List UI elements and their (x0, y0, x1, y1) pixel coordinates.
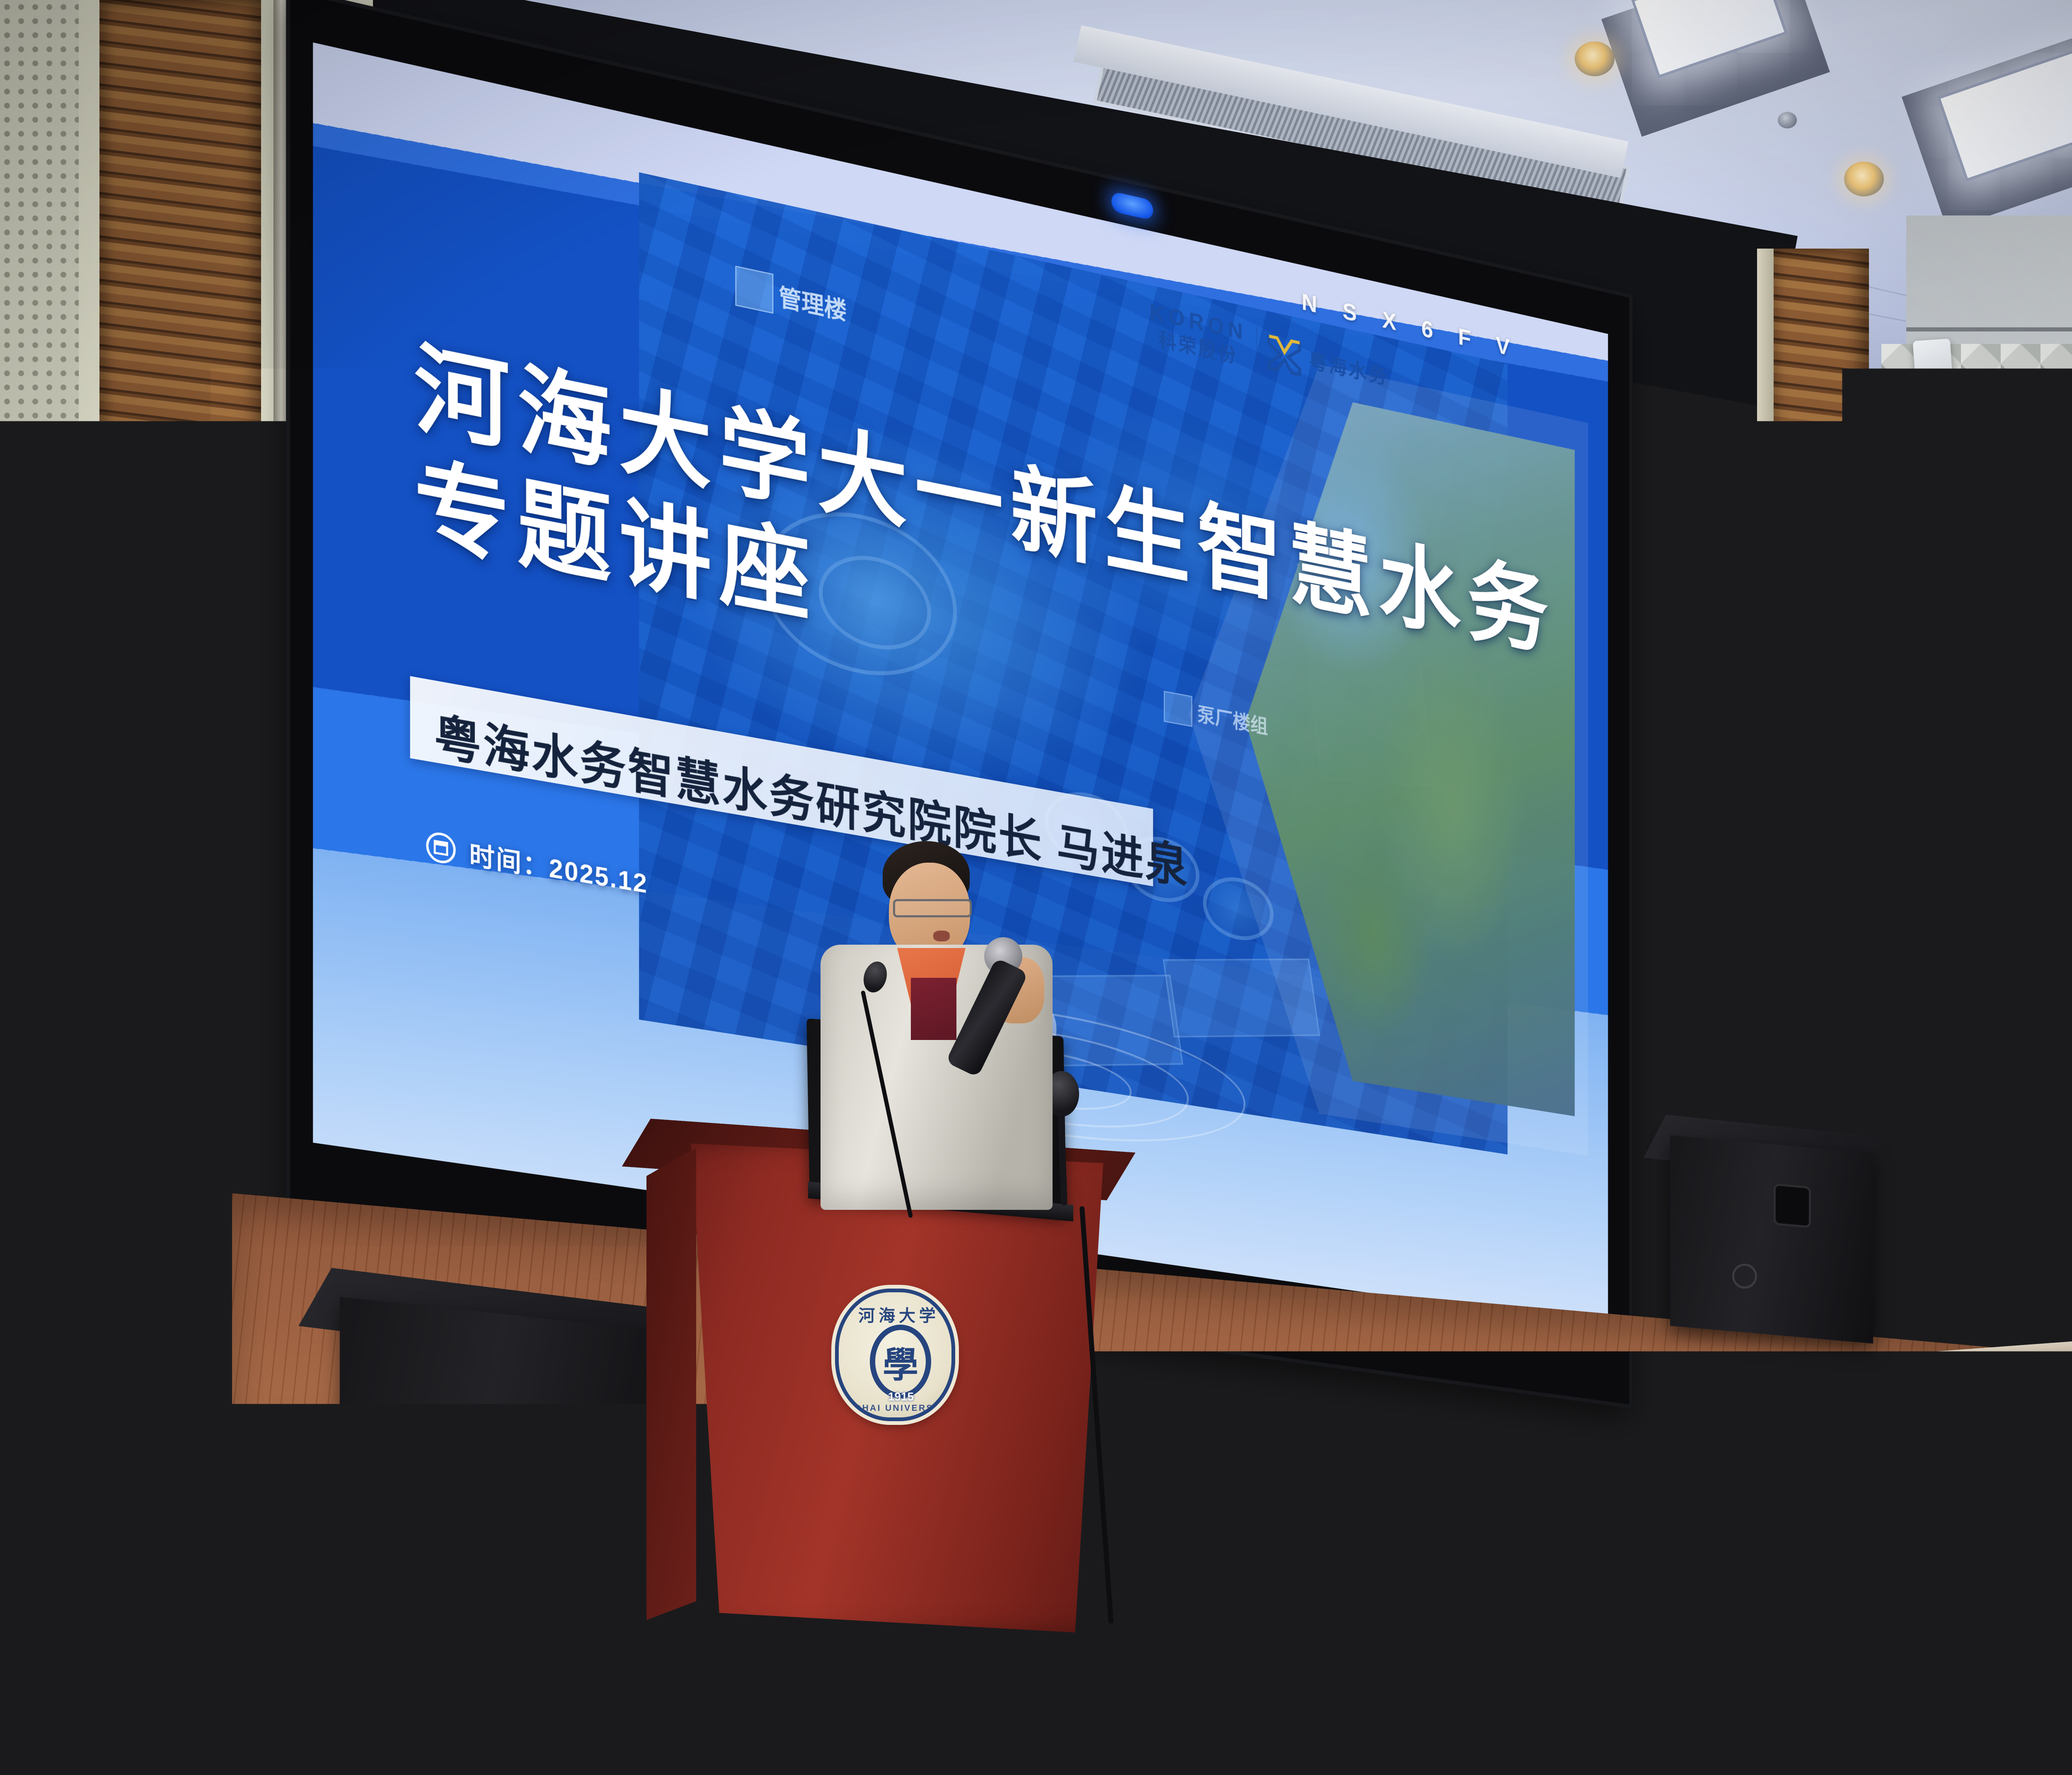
ceiling-downlight (1575, 41, 1615, 76)
emblem-core-character: 學 (883, 1336, 918, 1388)
column-trim (1757, 249, 1774, 1251)
emblem-year: 1915 (878, 1390, 924, 1403)
exit-sign: 安全出口 EXIT (1977, 802, 2047, 843)
calendar-glyph (434, 840, 448, 856)
handrail (1977, 941, 1983, 1247)
emblem-en-text: HOHAI UNIVERSITY (845, 1403, 953, 1413)
smartphone[interactable] (2048, 974, 2072, 995)
left-perforated-panel (0, 0, 79, 646)
university-emblem: 河海大学 學 1915 HOHAI UNIVERSITY (835, 1289, 955, 1421)
wall-power-socket (116, 1392, 166, 1423)
photographer-glasses (2048, 950, 2072, 959)
emblem-core: 學 (870, 1325, 931, 1398)
photographer-trousers (2031, 1106, 2072, 1251)
subwoofer-left-handle (497, 1406, 551, 1474)
speaker-inner-layer (911, 978, 956, 1040)
panel-connector[interactable] (1383, 1710, 1408, 1728)
panel-connector[interactable] (1416, 1714, 1441, 1732)
speaker-glasses (893, 899, 972, 917)
calendar-icon (426, 830, 455, 866)
logo-yuehai-cn: 粤海水务 (1309, 344, 1388, 390)
logo-divider (1256, 327, 1257, 367)
building-chip-icon (1164, 691, 1192, 727)
emblem-cn-text: 河海大学 (846, 1302, 951, 1326)
wall-seam (1906, 327, 2072, 331)
subwoofer-right-handle (1774, 1183, 1811, 1228)
speaker-logo-icon (1732, 1264, 1757, 1289)
floor-mic-head (1204, 1531, 1227, 1571)
speaker-mouth (933, 931, 950, 941)
monitor-brand-icon (941, 1674, 970, 1703)
monitor-side-panel (613, 1613, 651, 1775)
wall-mounted-sensor (132, 629, 167, 661)
audience-photographer (2002, 924, 2072, 1251)
wood-slat-column-right (1769, 249, 1869, 1251)
wall-mounted-sensor (1913, 339, 1954, 395)
wall-recess-dark (0, 878, 46, 1168)
acoustic-pyramid-wall (1881, 344, 2072, 791)
security-camera-icon (1861, 721, 1890, 750)
door-frame-line (1968, 866, 1973, 1255)
photographer-inner-shirt (2055, 986, 2072, 1106)
exit-sign-en: EXIT (2001, 829, 2023, 837)
butterfly-logo-icon (1266, 329, 1302, 377)
subwoofer-right (1670, 1135, 1873, 1344)
lecture-hall-photo: 安全出口 EXIT (0, 0, 2072, 1775)
speaker-at-podium (816, 841, 1115, 1214)
ceiling-sprinkler (1778, 112, 1797, 128)
podium-left-face (646, 1148, 696, 1620)
exit-sign-cn: 安全出口 (1984, 808, 2040, 827)
ceiling-downlight (1844, 162, 1884, 196)
building-chip-icon (735, 266, 773, 314)
handrail-top (1977, 937, 2002, 944)
power-led-indicator (1111, 191, 1153, 220)
camera-bracket (1848, 704, 1861, 725)
